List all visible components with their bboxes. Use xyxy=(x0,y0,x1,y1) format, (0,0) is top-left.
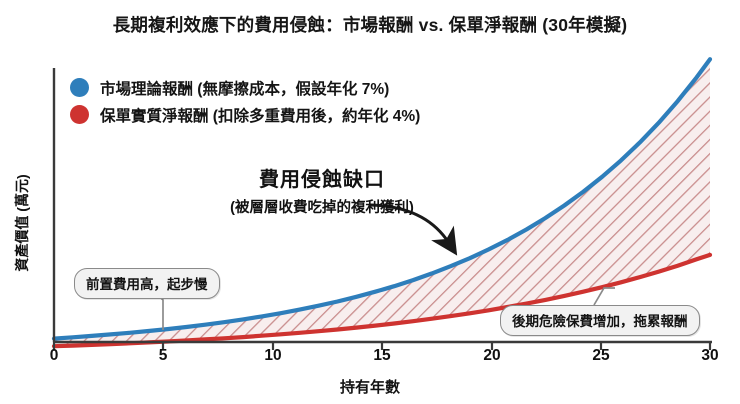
x-tick-label-15: 15 xyxy=(362,347,402,365)
x-tick-label-20: 20 xyxy=(472,347,512,365)
callout-late-fees: 後期危險保費增加，拖累報酬 xyxy=(500,305,700,336)
callout-left-tail xyxy=(157,294,163,330)
callout-right-tail xyxy=(594,288,615,305)
x-tick-label-25: 25 xyxy=(581,347,621,365)
legend-item-policy: 保單實質淨報酬 (扣除多重費用後，約年化 4%) xyxy=(70,101,420,128)
x-tick-label-0: 0 xyxy=(34,347,74,365)
y-axis-title: 資產價值 (萬元) xyxy=(12,138,32,308)
legend-dot-red-icon xyxy=(70,105,89,124)
gap-annotation-subtitle: (被層層收費吃掉的複利獲利) xyxy=(196,196,448,217)
gap-annotation: 費用侵蝕缺口 (被層層收費吃掉的複利獲利) xyxy=(196,163,448,217)
legend-label-policy: 保單實質淨報酬 (扣除多重費用後，約年化 4%) xyxy=(100,104,420,126)
gap-annotation-title: 費用侵蝕缺口 xyxy=(196,163,448,192)
legend-item-market: 市場理論報酬 (無摩擦成本，假設年化 7%) xyxy=(70,74,420,101)
chart-container: 長期複利效應下的費用侵蝕：市場報酬 vs. 保單淨報酬 (30年模擬) xyxy=(0,0,740,404)
x-axis-title: 持有年數 xyxy=(0,376,740,397)
x-tick-label-10: 10 xyxy=(253,347,293,365)
chart-legend: 市場理論報酬 (無摩擦成本，假設年化 7%) 保單實質淨報酬 (扣除多重費用後，… xyxy=(70,74,420,128)
callout-early-fees: 前置費用高，起步慢 xyxy=(74,268,220,299)
legend-dot-blue-icon xyxy=(70,78,89,97)
x-tick-label-5: 5 xyxy=(143,347,183,365)
x-tick-label-30: 30 xyxy=(690,347,730,365)
legend-label-market: 市場理論報酬 (無摩擦成本，假設年化 7%) xyxy=(100,77,389,99)
